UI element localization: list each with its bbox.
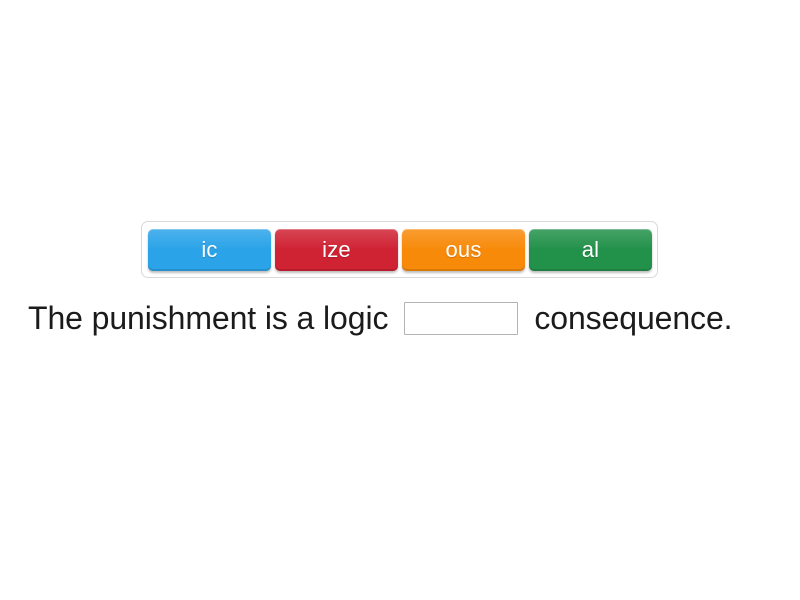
tile-tray: ic ize ous al [141,221,658,278]
tile-label: ous [445,239,481,261]
sentence-text-before-blank: The punishment is a logic [28,296,388,340]
tile-ic[interactable]: ic [148,229,271,271]
tile-ous[interactable]: ous [402,229,525,271]
tile-al[interactable]: al [529,229,652,271]
blank-drop-zone[interactable] [404,302,518,335]
tile-label: ic [201,239,217,261]
tile-ize[interactable]: ize [275,229,398,271]
tile-label: ize [322,239,351,261]
activity-stage: ic ize ous al The punishment is a logic … [0,0,800,600]
tile-label: al [582,239,600,261]
sentence-line: The punishment is a logic consequence. [28,296,780,340]
sentence-text-after-blank: consequence. [534,296,732,340]
